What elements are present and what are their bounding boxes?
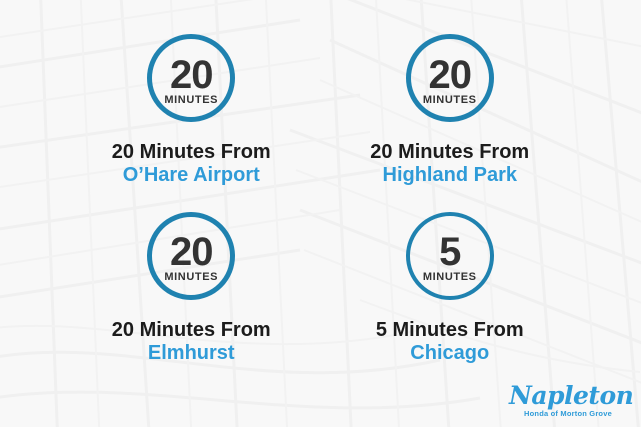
badge-unit-label: MINUTES <box>423 95 477 106</box>
caption-duration: 5 Minutes From <box>376 319 524 342</box>
caption-destination: Highland Park <box>370 164 529 187</box>
badge-unit-label: MINUTES <box>164 95 218 106</box>
card-caption: 20 Minutes From O’Hare Airport <box>112 141 271 187</box>
drive-time-card-ohare-airport: 20 MINUTES 20 Minutes From O’Hare Airpor… <box>62 34 321 212</box>
badge-number: 20 <box>170 57 213 93</box>
minutes-badge: 20 MINUTES <box>147 212 235 300</box>
minutes-badge: 20 MINUTES <box>406 34 494 122</box>
napleton-logo: Napleton Honda of Morton Grove <box>509 383 627 418</box>
badge-number: 5 <box>439 234 460 270</box>
caption-duration: 20 Minutes From <box>112 141 271 164</box>
caption-destination: O’Hare Airport <box>112 164 271 187</box>
logo-wordmark: Napleton <box>509 383 627 408</box>
badge-unit-label: MINUTES <box>423 272 477 283</box>
card-caption: 20 Minutes From Elmhurst <box>112 319 271 365</box>
drive-time-card-chicago: 5 MINUTES 5 Minutes From Chicago <box>321 212 580 390</box>
caption-duration: 20 Minutes From <box>370 141 529 164</box>
badge-number: 20 <box>170 234 213 270</box>
card-caption: 20 Minutes From Highland Park <box>370 141 529 187</box>
drive-time-card-highland-park: 20 MINUTES 20 Minutes From Highland Park <box>321 34 580 212</box>
minutes-badge: 5 MINUTES <box>406 212 494 300</box>
minutes-badge: 20 MINUTES <box>147 34 235 122</box>
caption-destination: Chicago <box>376 342 524 365</box>
caption-destination: Elmhurst <box>112 342 271 365</box>
badge-unit-label: MINUTES <box>164 272 218 283</box>
card-caption: 5 Minutes From Chicago <box>376 319 524 365</box>
cards-grid: 20 MINUTES 20 Minutes From O’Hare Airpor… <box>0 0 641 427</box>
caption-duration: 20 Minutes From <box>112 319 271 342</box>
promo-graphic: 20 MINUTES 20 Minutes From O’Hare Airpor… <box>0 0 641 427</box>
logo-tagline: Honda of Morton Grove <box>509 410 627 418</box>
badge-number: 20 <box>429 57 472 93</box>
drive-time-card-elmhurst: 20 MINUTES 20 Minutes From Elmhurst <box>62 212 321 390</box>
